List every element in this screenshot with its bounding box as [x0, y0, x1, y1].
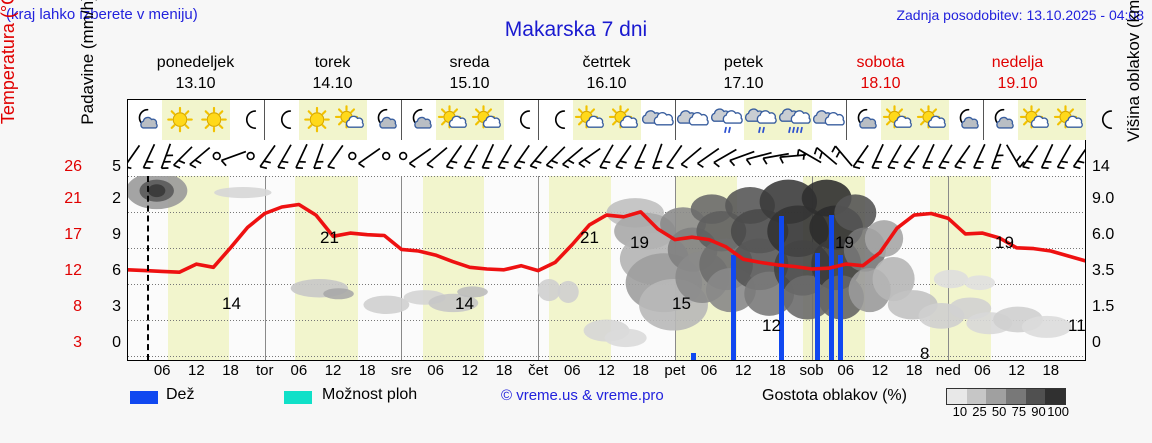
x-axis-tick-label: tor — [256, 362, 274, 379]
wind-barb-feather — [888, 167, 895, 168]
weather-icon-cell — [949, 100, 984, 140]
wind-barb-feather — [681, 164, 687, 167]
wind-barb-feather — [820, 152, 822, 159]
cloud-height-tick-label: 3.5 — [1092, 262, 1124, 280]
sun-cloud-icon — [915, 105, 949, 135]
wind-barb-shaft — [653, 144, 662, 168]
weather-icon-cell — [573, 100, 607, 140]
wind-barb-feather — [281, 161, 288, 162]
wind-barb-shaft — [681, 148, 701, 165]
precipitation-tick-label: 3 — [95, 298, 121, 316]
wind-barb-shaft — [514, 145, 529, 166]
wind-calm-symbol — [383, 153, 390, 160]
cloud-height-tick-label: 1.5 — [1092, 298, 1124, 316]
x-axis-tick-label: čet — [528, 362, 548, 379]
weather-icon-cell — [230, 100, 265, 140]
day-name: ponedeljek — [127, 52, 264, 73]
wind-barb-feather — [616, 167, 623, 169]
cloud-density-ramp-step — [947, 389, 967, 404]
wind-barb-shaft — [1007, 145, 1020, 168]
day-header-četrtek: četrtek16.10 — [538, 52, 675, 96]
temperature-value-label: 11 — [1068, 316, 1085, 336]
wind-barb-shaft — [278, 145, 291, 168]
wind-barb-shaft — [447, 145, 462, 166]
wind-barb-shaft — [296, 144, 307, 168]
day-date: 16.10 — [538, 73, 675, 94]
wind-barb-feather — [579, 163, 585, 167]
cloud-density-ramp-label: 50 — [992, 404, 1006, 419]
cloud-density-ramp-label: 75 — [1012, 404, 1026, 419]
wind-barb-shaft — [1023, 145, 1038, 166]
wind-barb-feather — [174, 165, 180, 168]
wind-barb-feather — [857, 161, 864, 163]
wind-barb-feather — [939, 167, 946, 168]
x-axis-tick-label: 12 — [461, 362, 478, 379]
moon-icon — [1086, 105, 1120, 135]
cloud-density-ramp-step — [967, 389, 987, 404]
wind-barb-shaft — [616, 145, 631, 166]
weather-icon-cell — [367, 100, 402, 140]
day-header-torek: torek14.10 — [264, 52, 401, 96]
precipitation-tick-label: 5 — [95, 158, 121, 176]
wind-barb-feather — [530, 166, 537, 168]
wind-barb-feather — [832, 146, 835, 152]
temperature-value-label: 21 — [320, 228, 339, 248]
weather-icon-cell — [196, 100, 230, 140]
wind-barb-feather — [746, 159, 750, 165]
wind-barb-shaft — [579, 149, 600, 164]
wind-barb-shaft — [974, 144, 985, 168]
wind-barb-feather — [798, 150, 799, 157]
x-axis-tick-label: 18 — [496, 362, 513, 379]
wind-barb-feather — [278, 167, 285, 168]
wind-barb-shaft — [923, 144, 934, 168]
weather-icon-cell — [710, 100, 744, 140]
showers-legend-swatch — [284, 391, 312, 404]
weather-icon-cell — [1052, 100, 1086, 140]
wind-calm-symbol — [400, 153, 407, 160]
sun-cloud-icon — [607, 105, 641, 135]
weather-icon-cell — [333, 100, 367, 140]
day-name: sreda — [401, 52, 538, 73]
wind-barb-feather — [603, 161, 610, 162]
day-date: 18.10 — [812, 73, 949, 94]
moon-cloud-icon — [949, 105, 983, 135]
x-axis-tick-label: 12 — [598, 362, 615, 379]
x-axis-tick-label: 06 — [154, 362, 171, 379]
cloud-height-tick-label: 0 — [1092, 334, 1124, 352]
wind-barb-feather — [551, 160, 557, 163]
weather-icon-cell — [607, 100, 641, 140]
wind-barb-shaft — [143, 144, 154, 168]
wind-barb-shaft — [1042, 144, 1053, 168]
wind-barb-feather — [409, 163, 415, 167]
x-axis-tick-label: 06 — [974, 362, 991, 379]
wind-barb-shaft — [427, 148, 447, 165]
wind-barb-feather — [427, 164, 433, 167]
weather-icon-cell — [984, 100, 1018, 140]
cloud-density-ramp-step — [1026, 389, 1046, 404]
wind-barb-feather — [620, 161, 627, 163]
cloud-density-ramp-label: 100 — [1047, 404, 1069, 419]
day-date: 17.10 — [675, 73, 812, 94]
wind-barb-feather — [698, 163, 704, 167]
x-axis-tick-label: ned — [936, 362, 961, 379]
x-axis-tick-label: 12 — [872, 362, 889, 379]
wind-barb-shaft — [498, 145, 511, 168]
x-axis-tick-label: sre — [391, 362, 412, 379]
precipitation-tick-label: 9 — [95, 226, 121, 244]
day-header-row: ponedeljek13.10torek14.10sreda15.10četrt… — [127, 52, 1086, 96]
moon-cloud-icon — [402, 105, 436, 135]
wind-barb-feather — [535, 161, 542, 163]
cloud-density-ramp-step — [1006, 389, 1026, 404]
wind-barb-shaft — [667, 145, 682, 166]
x-axis-tick-label: 18 — [359, 362, 376, 379]
wind-barb-shaft — [464, 145, 477, 168]
weather-icon-cell — [1086, 100, 1120, 140]
x-axis-tick-label: 18 — [1042, 362, 1059, 379]
temperature-value-label: 19 — [630, 233, 649, 253]
sun-cloud-icon — [436, 105, 470, 135]
temperature-tick-label: 12 — [42, 262, 82, 280]
wind-barb-shaft — [888, 145, 901, 168]
wind-barb-shaft — [128, 145, 139, 166]
forecast-graph: 1422142114211519121981911 — [128, 176, 1085, 360]
weather-icon-cell — [847, 100, 881, 140]
wind-barb-feather — [1074, 167, 1081, 169]
moon-cloud-icon — [367, 105, 401, 135]
cloud-icon — [641, 105, 675, 135]
weather-icon-cell — [778, 100, 812, 140]
showers-legend-label: Možnost ploh — [322, 386, 417, 404]
weather-icon-cell — [676, 100, 710, 140]
day-date: 15.10 — [401, 73, 538, 94]
wind-barb-feather — [518, 161, 525, 163]
day-date: 19.10 — [949, 73, 1086, 94]
wind-barb-feather — [498, 167, 505, 168]
x-axis-tick-label: 06 — [291, 362, 308, 379]
temperature-value-label: 12 — [762, 316, 781, 336]
x-axis-tick-label: 06 — [701, 362, 718, 379]
moon-icon — [265, 105, 299, 135]
x-axis-tick-label: 18 — [632, 362, 649, 379]
wind-barb-feather — [815, 148, 817, 155]
x-axis-tick-label: 12 — [1008, 362, 1025, 379]
weather-icon-cell — [641, 100, 676, 140]
sun-icon — [196, 105, 230, 135]
cloud-icon — [812, 105, 846, 135]
wind-barb-shaft — [260, 145, 275, 166]
wind-barb-shaft — [904, 145, 919, 166]
wind-barb-feather — [667, 167, 674, 169]
day-header-petek: petek17.10 — [675, 52, 812, 96]
cloud-rain-icon — [744, 105, 778, 135]
x-axis-tick-label: sob — [799, 362, 823, 379]
wind-barb-feather — [1023, 167, 1030, 169]
wind-barb-shaft — [482, 144, 493, 168]
temperature-tick-label: 17 — [42, 226, 82, 244]
sun-cloud-icon — [881, 105, 915, 135]
wind-barb-shaft — [600, 145, 613, 168]
temperature-tick-label: 21 — [42, 190, 82, 208]
wind-barb-feather — [328, 167, 335, 169]
wind-barb-feather — [502, 161, 509, 162]
precipitation-tick-label: 2 — [95, 190, 121, 208]
weather-icon-row — [128, 100, 1085, 140]
wind-barb-feather — [468, 161, 475, 162]
temperature-value-label: 21 — [580, 228, 599, 248]
wind-barb-feather — [780, 157, 783, 163]
wind-barb-feather — [891, 161, 898, 162]
x-axis-tick-label: 18 — [769, 362, 786, 379]
wind-barb-shaft — [714, 150, 737, 163]
cloud-density-legend-title: Gostota oblakov (%) — [762, 387, 907, 405]
wind-barb-feather — [260, 167, 267, 169]
moon-icon — [504, 105, 538, 135]
weather-icon-cell — [299, 100, 333, 140]
wind-barb-feather — [128, 167, 131, 169]
day-name: četrtek — [538, 52, 675, 73]
x-axis-ticks: 061218tor061218sre061218čet061218pet0612… — [128, 362, 1085, 382]
cloud-height-axis-title: Višina oblakov (km) — [1124, 0, 1144, 168]
day-header-ponedeljek: ponedeljek13.10 — [127, 52, 264, 96]
weather-icon-cell — [504, 100, 539, 140]
wind-barb-feather — [1027, 161, 1034, 163]
precipitation-tick-label: 6 — [95, 262, 121, 280]
temperature-line — [128, 176, 1085, 360]
wind-barb-shaft — [221, 152, 245, 161]
wind-barb-feather — [803, 153, 804, 160]
rain-legend-swatch — [130, 391, 158, 404]
cloud-rain-heavy-icon — [778, 105, 812, 135]
weather-icon-cell — [402, 100, 436, 140]
temperature-value-label: 8 — [920, 344, 929, 360]
day-name: nedelja — [949, 52, 1086, 73]
precipitation-axis-title: Padavine (mm/h) — [78, 0, 98, 160]
cloud-height-tick-label: 6.0 — [1092, 226, 1124, 244]
wind-barb-feather — [600, 167, 607, 168]
weather-icon-cell — [744, 100, 778, 140]
wind-barb-feather — [853, 167, 860, 169]
wind-barb-feather — [584, 160, 590, 164]
wind-barb-shaft — [328, 145, 343, 166]
moon-cloud-icon — [128, 105, 162, 135]
wind-barb-feather — [359, 163, 365, 167]
x-axis-tick-label: 18 — [906, 362, 923, 379]
x-axis-tick-label: 12 — [325, 362, 342, 379]
wind-barb-feather — [447, 167, 454, 169]
wind-barb-feather — [1061, 161, 1068, 162]
wind-barb-shaft — [314, 144, 323, 168]
wind-barb-feather — [1077, 161, 1084, 163]
wind-barb-shaft — [1074, 145, 1085, 166]
moon-icon — [230, 105, 264, 135]
wind-barb-shaft — [1058, 145, 1071, 168]
x-axis-tick-label: 06 — [837, 362, 854, 379]
wind-barb-shaft — [359, 149, 380, 164]
sun-cloud-icon — [1018, 105, 1052, 135]
temperature-value-label: 19 — [995, 233, 1014, 253]
day-date: 13.10 — [127, 73, 264, 94]
cloud-density-ramp-step — [1045, 389, 1065, 404]
temperature-tick-label: 26 — [42, 158, 82, 176]
wind-barb-feather — [195, 160, 201, 163]
wind-barb-feather — [568, 160, 574, 163]
weather-icon-cell — [128, 100, 162, 140]
wind-barb-feather — [904, 167, 911, 169]
day-header-sobota: sobota18.10 — [812, 52, 949, 96]
wind-barb-feather — [942, 161, 949, 162]
moon-icon — [539, 105, 573, 135]
temperature-value-label: 14 — [222, 294, 241, 314]
wind-calm-symbol — [247, 153, 254, 160]
x-axis-tick-label: 12 — [188, 362, 205, 379]
cloud-height-tick-label: 9.0 — [1092, 190, 1124, 208]
temperature-tick-label: 3 — [42, 334, 82, 352]
wind-barb-shaft — [872, 144, 883, 168]
temperature-tick-label: 8 — [42, 298, 82, 316]
weather-icon-cell — [915, 100, 949, 140]
wind-barb-feather — [464, 167, 471, 168]
wind-barb-feather — [714, 163, 719, 167]
wind-barb-feather — [908, 161, 915, 163]
weather-icon-cell — [470, 100, 504, 140]
wind-barb-feather — [221, 160, 226, 165]
wind-barb-shaft — [409, 149, 430, 164]
wind-barb-feather — [264, 161, 271, 163]
sun-cloud-icon — [333, 105, 367, 135]
weather-icon-cell — [1018, 100, 1052, 140]
day-header-nedelja: nedelja19.10 — [949, 52, 1086, 96]
cloud-density-ramp-label: 10 — [953, 404, 967, 419]
wind-barb-feather — [178, 160, 184, 163]
wind-barb-feather — [955, 167, 962, 169]
x-axis-tick-label: pet — [664, 362, 685, 379]
wind-barb-feather — [190, 164, 196, 167]
sun-icon — [299, 105, 333, 135]
day-date: 14.10 — [264, 73, 401, 94]
wind-barb-feather — [563, 164, 569, 167]
sun-cloud-icon — [573, 105, 607, 135]
wind-barb-shaft — [955, 145, 970, 166]
wind-barb-shaft — [635, 144, 646, 168]
sun-cloud-icon — [470, 105, 504, 135]
day-name: petek — [675, 52, 812, 73]
cloud-density-ramp-label: 25 — [972, 404, 986, 419]
weather-icon-cell — [436, 100, 470, 140]
wind-calm-symbol — [213, 153, 220, 160]
cloud-density-ramp-labels: 1025507590100 — [938, 404, 1072, 420]
day-header-sreda: sreda15.10 — [401, 52, 538, 96]
current-time-marker — [147, 176, 149, 360]
wind-barb-feather — [836, 151, 839, 157]
weather-icon-cell — [881, 100, 915, 140]
cloud-icon — [676, 105, 710, 135]
cloud-density-ramp-label: 90 — [1031, 404, 1045, 419]
temperature-value-label: 19 — [835, 233, 854, 253]
wind-barb-feather — [1016, 156, 1020, 161]
x-axis-tick-label: 06 — [564, 362, 581, 379]
wind-calm-symbol — [349, 153, 356, 160]
temperature-value-label: 15 — [672, 294, 691, 314]
x-axis-tick-label: 06 — [427, 362, 444, 379]
x-axis-tick-label: 12 — [735, 362, 752, 379]
cloud-height-tick-label: 14 — [1092, 158, 1124, 176]
chart-legend: Dež Možnost ploh © vreme.us & vreme.pro … — [126, 386, 1146, 420]
wind-barb-shaft — [853, 145, 868, 166]
day-name: sobota — [812, 52, 949, 73]
cloud-rain-icon — [710, 105, 744, 135]
cloud-density-color-ramp — [946, 388, 1066, 405]
wind-barb-feather — [1058, 167, 1065, 168]
last-updated-label: Zadnja posodobitev: 13.10.2025 - 04:08 — [896, 7, 1144, 23]
temperature-axis-title: Temperatura (°C) — [0, 0, 19, 160]
wind-barb-row — [128, 140, 1085, 175]
weather-icon-cell — [539, 100, 573, 140]
wind-barb-feather — [546, 165, 552, 168]
moon-cloud-icon — [847, 105, 881, 135]
weather-icon-cell — [162, 100, 196, 140]
moon-cloud-icon — [984, 105, 1018, 135]
weather-icon-cell — [812, 100, 847, 140]
wind-barb-feather — [514, 167, 521, 169]
rain-legend-label: Dež — [166, 386, 194, 404]
wind-barb-feather — [959, 161, 966, 163]
temperature-value-label: 14 — [455, 294, 474, 314]
copyright-link[interactable]: © vreme.us & vreme.pro — [501, 387, 664, 404]
cloud-density-ramp-step — [986, 389, 1006, 404]
wind-barb-feather — [450, 161, 457, 163]
wind-barb-shaft — [939, 145, 952, 168]
x-axis-tick-label: 18 — [222, 362, 239, 379]
sun-cloud-icon — [1052, 105, 1086, 135]
day-name: torek — [264, 52, 401, 73]
weather-icon-cell — [265, 100, 299, 140]
precipitation-tick-label: 0 — [95, 334, 121, 352]
wind-barb-feather — [730, 160, 735, 165]
wind-barb-feather — [763, 158, 767, 164]
sun-icon — [162, 105, 196, 135]
